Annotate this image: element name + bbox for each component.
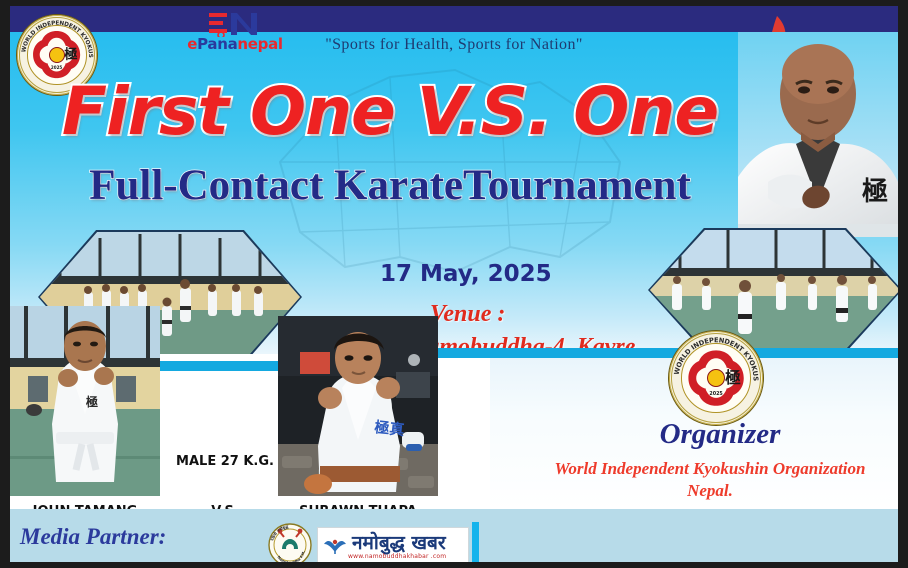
footer-cyan-accent [472,522,479,562]
venue-label: Venue : [430,301,505,328]
wiko-center-hub [49,47,65,63]
namobuddha-khabar-url: www.namobuddhakhabar .com [348,553,468,560]
page-subtitle: Full-Contact KarateTournament [10,161,770,211]
svg-text:極: 極 [862,177,888,207]
fighter-right-photo: 極真 [278,316,438,496]
epananepal-wordmark: ePananepal [185,35,285,53]
epana-e: e [187,35,197,53]
namobuddha-khabar-title: नमोबुद्ध खबर [352,529,467,555]
epana-pana: Pana [197,35,237,53]
event-poster: "Sports for Health, Sports for Nation" W… [10,6,898,562]
poster-frame: "Sports for Health, Sports for Nation" W… [0,0,908,568]
wiko-logo-organizer: WORLD INDEPENDENT KYOKUSHIN ORGANIZATION… [668,330,764,426]
organizer-name-line1: World Independent Kyokushin Organization [555,459,866,478]
organizer-name-line2: Nepal. [687,481,733,500]
cyan-divider-right [410,348,898,358]
page-title: First One V.S. One [10,79,770,145]
organizer-name: World Independent Kyokushin Organization… [520,458,898,502]
svg-text:極真: 極真 [373,418,406,439]
svg-text:極: 極 [65,46,78,63]
svg-text:2025: 2025 [709,391,722,397]
namobuddha-khabar-logo[interactable]: नमोबुद्ध खबर www.namobuddhakhabar .com [317,527,469,562]
epana-nepal: nepal [237,35,282,53]
media-partner-label: Media Partner: [20,524,166,550]
svg-text:極: 極 [86,394,98,409]
svg-text:極: 極 [724,368,741,387]
organizer-title: Organizer [550,418,890,451]
event-date: 17 May, 2025 [380,261,630,287]
svg-text:2025: 2025 [51,65,63,70]
fighter-left-photo: 極 [10,306,160,496]
weight-class: MALE 27 K.G. [160,454,290,469]
epananepal-logo[interactable]: ePananepal [185,11,285,57]
radio-seal-logo[interactable]: रेडियो नमोबुद्ध Namobuddha F.M. [268,523,312,562]
epananepal-mark-icon [207,11,265,37]
namobuddha-bird-icon [322,536,348,556]
